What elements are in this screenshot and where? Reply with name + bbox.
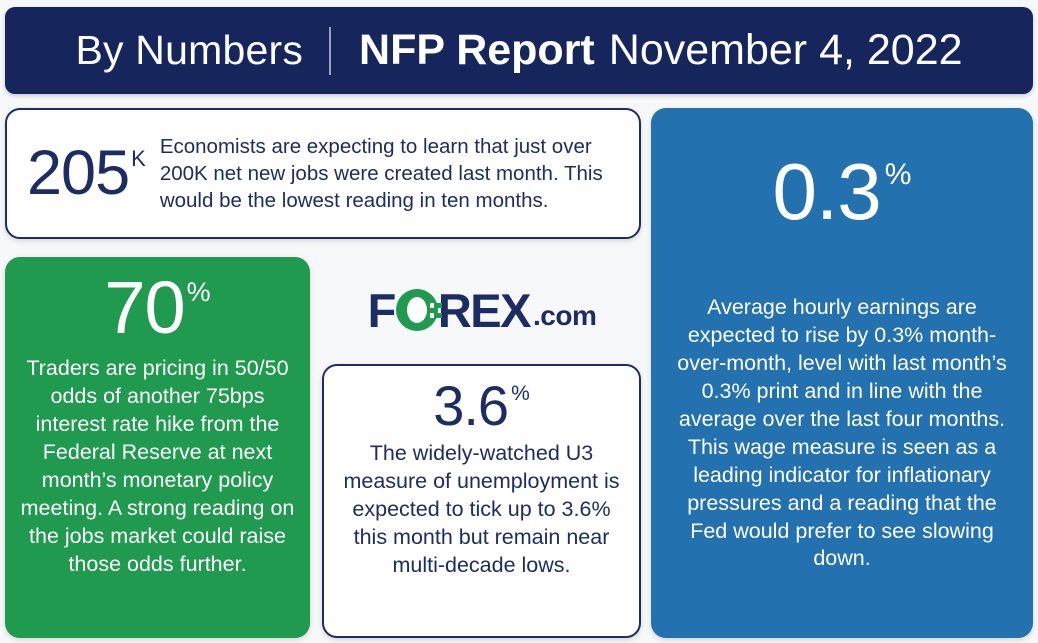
header-inner: By Numbers NFP Report November 4, 2022 xyxy=(75,26,962,75)
logo-letters-rex: REX xyxy=(438,287,530,334)
unemployment-stat: 3.6 % xyxy=(433,378,530,434)
header-by-numbers-label: By Numbers xyxy=(75,27,303,74)
rate-hike-odds-suffix: % xyxy=(187,279,211,306)
logo-letter-f: F xyxy=(368,287,395,334)
euro-globe-icon xyxy=(396,289,438,331)
unemployment-value: 3.6 xyxy=(433,378,508,434)
infographic-page: By Numbers NFP Report November 4, 2022 2… xyxy=(0,0,1038,643)
card-rate-hike-odds: 70 % Traders are pricing in 50/50 odds o… xyxy=(5,257,310,638)
rate-hike-odds-body-text: Traders are pricing in 50/50 odds of ano… xyxy=(17,355,298,579)
euro-globe-gap-top xyxy=(430,303,434,308)
payrolls-body-text: Economists are expecting to learn that j… xyxy=(160,133,625,215)
header-report-date: November 4, 2022 xyxy=(609,26,963,75)
card-average-hourly-earnings: 0.3 % Average hourly earnings are expect… xyxy=(651,108,1033,638)
payrolls-suffix: K xyxy=(131,148,146,170)
forex-logo: F REX .com xyxy=(368,287,597,334)
payrolls-stat: 205 K xyxy=(27,142,146,205)
header-banner: By Numbers NFP Report November 4, 2022 xyxy=(5,7,1033,94)
average-hourly-earnings-stat: 0.3 % xyxy=(773,152,912,232)
rate-hike-odds-value: 70 xyxy=(104,271,184,345)
average-hourly-earnings-body-text: Average hourly earnings are expected to … xyxy=(669,294,1015,573)
forex-logo-wrap: F REX .com xyxy=(322,262,642,358)
average-hourly-earnings-suffix: % xyxy=(885,160,912,190)
card-payrolls: 205 K Economists are expecting to learn … xyxy=(5,108,641,239)
unemployment-suffix: % xyxy=(511,383,530,404)
average-hourly-earnings-value: 0.3 xyxy=(773,152,881,232)
header-report-title: NFP Report xyxy=(359,26,595,75)
euro-globe-gap-bottom xyxy=(430,313,434,318)
unemployment-body-text: The widely-watched U3 measure of unemplo… xyxy=(338,440,625,580)
logo-dotcom: .com xyxy=(533,302,596,330)
payrolls-value: 205 xyxy=(27,142,129,205)
rate-hike-odds-stat: 70 % xyxy=(104,271,210,345)
card-unemployment: 3.6 % The widely-watched U3 measure of u… xyxy=(322,364,641,638)
euro-globe-hole xyxy=(407,297,427,323)
header-divider xyxy=(329,27,331,75)
